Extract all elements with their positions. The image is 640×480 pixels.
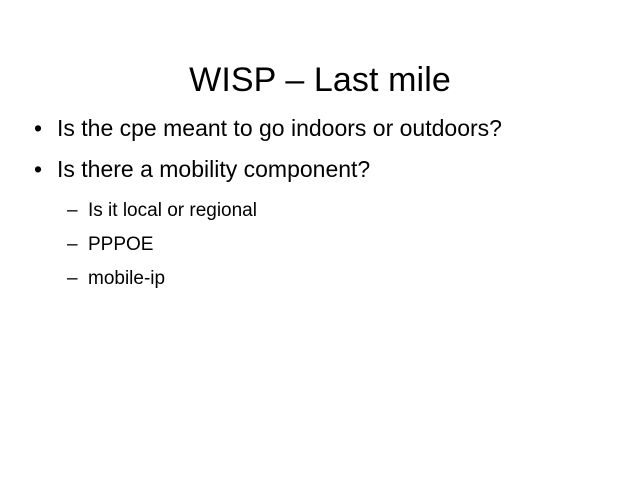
dash-marker-icon: – (67, 262, 83, 296)
dash-marker-icon: – (67, 228, 83, 262)
bullet-marker-icon: • (34, 149, 48, 190)
bullet-list-level2: – Is it local or regional – PPPOE – mobi… (0, 194, 640, 296)
bullet-marker-icon: • (34, 108, 48, 149)
bullet-text: Is the cpe meant to go indoors or outdoo… (57, 115, 502, 141)
bullet-item-cpe-indoors-outdoors: • Is the cpe meant to go indoors or outd… (0, 108, 640, 149)
bullet-list-level1: • Is the cpe meant to go indoors or outd… (0, 108, 640, 296)
sub-bullet-text: mobile-ip (88, 268, 165, 289)
slide-content-body: • Is the cpe meant to go indoors or outd… (0, 108, 640, 296)
sub-bullet-group: – Is it local or regional – PPPOE – mobi… (0, 194, 640, 296)
sub-bullet-item-pppoe: – PPPOE (0, 228, 640, 262)
presentation-slide: WISP – Last mile • Is the cpe meant to g… (0, 0, 640, 480)
slide-title: WISP – Last mile (0, 59, 640, 101)
sub-bullet-item-local-or-regional: – Is it local or regional (0, 194, 640, 228)
dash-marker-icon: – (67, 194, 83, 228)
sub-bullet-item-mobile-ip: – mobile-ip (0, 262, 640, 296)
sub-bullet-text: Is it local or regional (88, 200, 257, 221)
bullet-text: Is there a mobility component? (57, 156, 370, 182)
sub-bullet-text: PPPOE (88, 234, 153, 255)
bullet-item-mobility-component: • Is there a mobility component? (0, 149, 640, 190)
